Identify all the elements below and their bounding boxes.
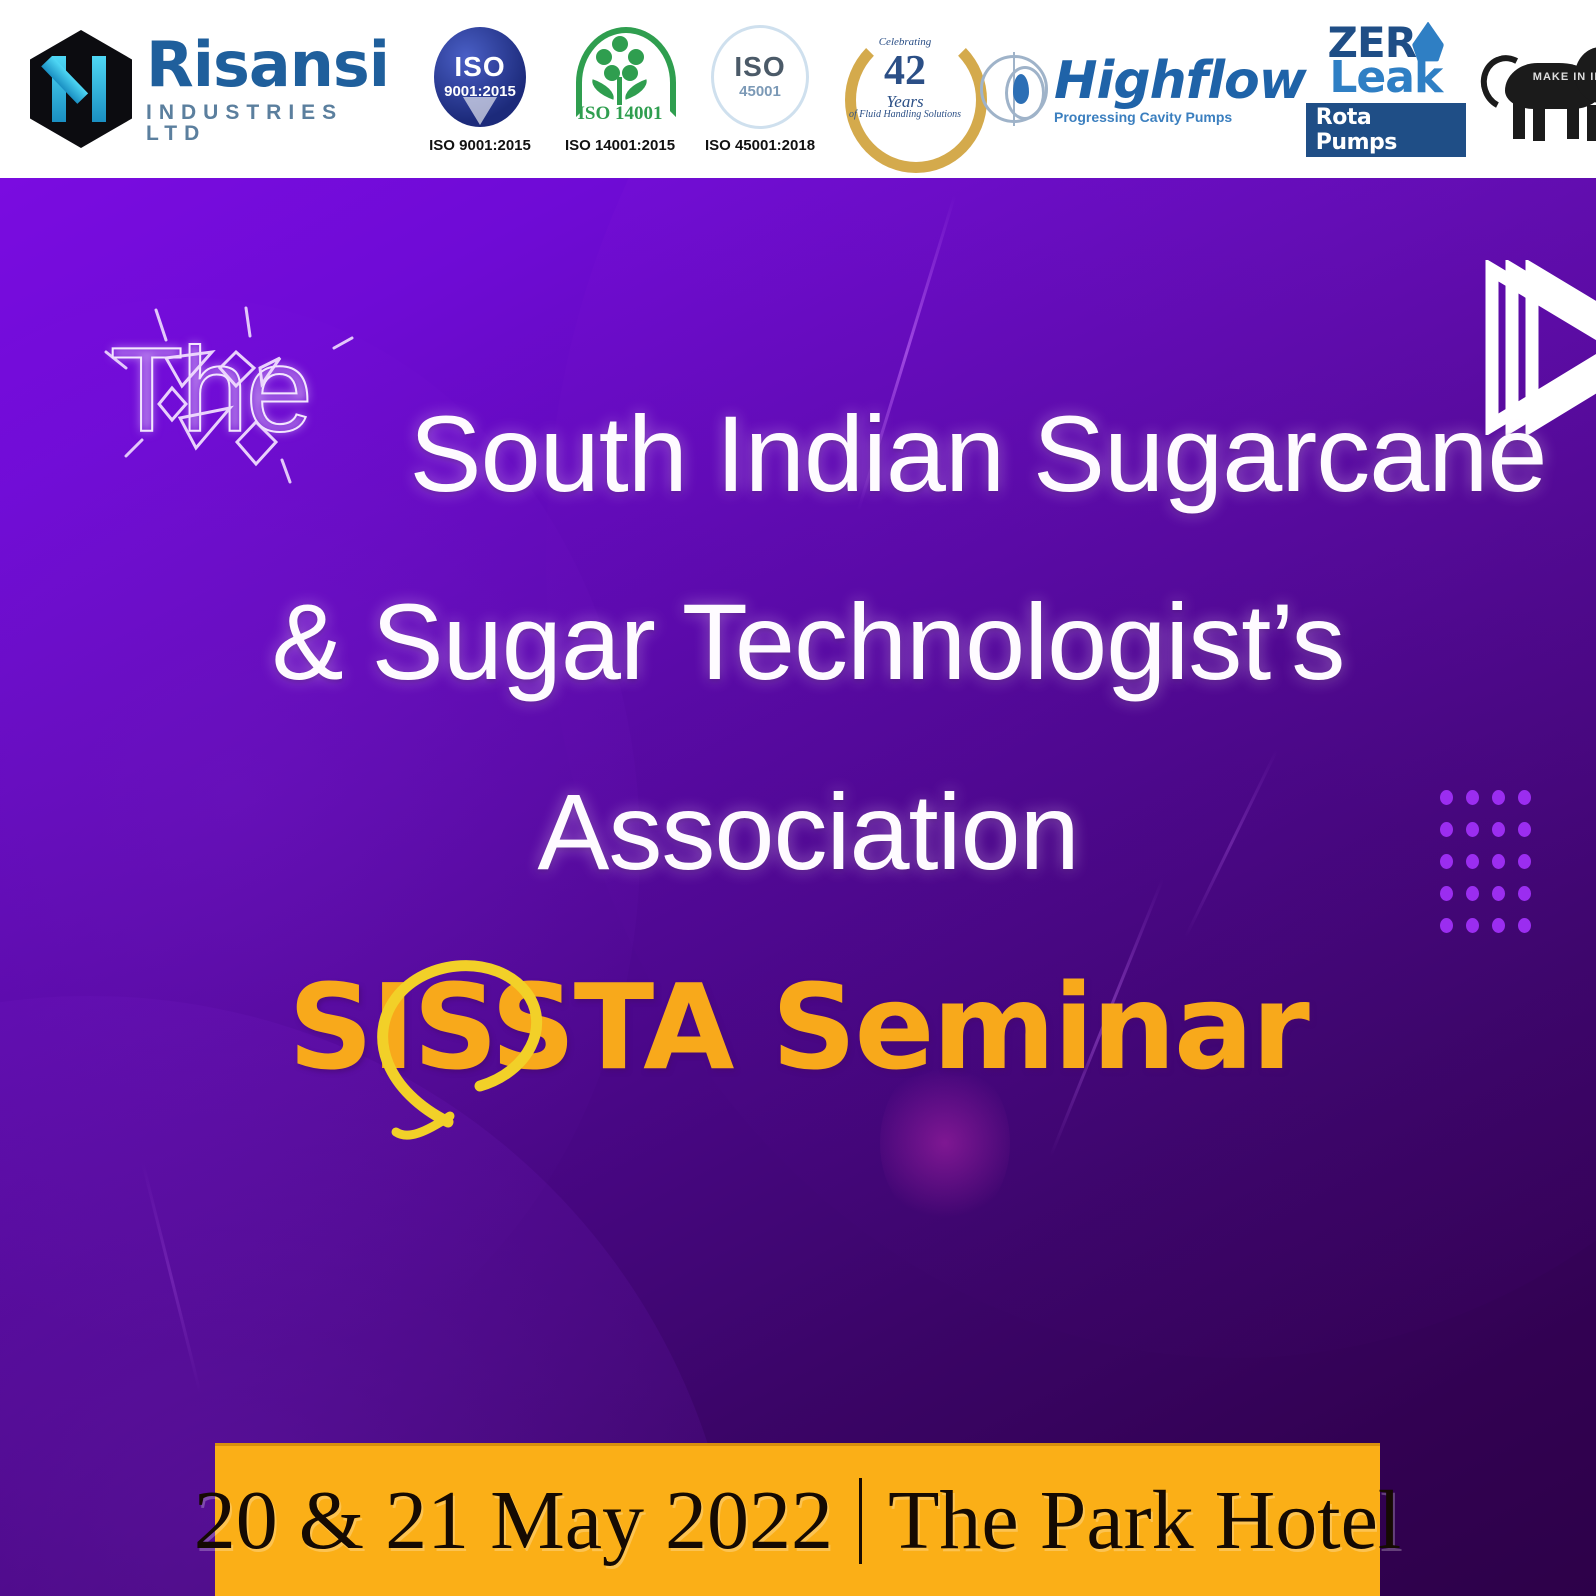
background-arc-top-right [546, 178, 1596, 1358]
zeroleak-logo: ZER Leak Rota Pumps [1306, 0, 1466, 178]
poster-background: The [0, 178, 1596, 1596]
title-line-3: Association [0, 778, 1596, 886]
title-line-1: South Indian Sugarcane [0, 400, 1596, 508]
event-name: SISSTA Seminar [288, 968, 1308, 1086]
risansi-subtitle: INDUSTRIES LTD [146, 102, 410, 144]
highflow-tagline: Progressing Cavity Pumps [1054, 110, 1306, 124]
anniversary-tagline: of Fluid Handling Solutions [835, 110, 975, 121]
iso-14001-flower-icon: ISO 14001 [573, 27, 667, 127]
iso-14001-badge: ISO 14001 ISO 14001:2015 [550, 0, 690, 178]
anniversary-top-line: Celebrating [835, 37, 975, 49]
highflow-globe-icon [980, 55, 1048, 123]
zeroleak-rota-pumps-label: Rota Pumps [1306, 103, 1466, 157]
risansi-hexagon-icon [30, 30, 132, 148]
iso-9001-mark-title: ISO [454, 53, 505, 81]
anniversary-badge: Celebrating 42 Years of Fluid Handling S… [830, 0, 980, 178]
highflow-logo: Highflow Progressing Cavity Pumps [980, 0, 1306, 178]
event-dates: 20 & 21 May 2022 [194, 1479, 833, 1563]
iso-14001-caption: ISO 14001:2015 [565, 137, 675, 154]
event-venue: The Park Hotel [888, 1479, 1401, 1563]
iso-9001-check-icon [463, 97, 497, 125]
iso-45001-caption: ISO 45001:2018 [705, 137, 815, 154]
iso-45001-mark-number: 45001 [739, 83, 781, 100]
iso-9001-badge: ISO 9001:2015 ISO 9001:2015 [410, 0, 550, 178]
title-line-2: & Sugar Technologist’s [0, 588, 1596, 696]
highflow-wordmark: Highflow [1054, 55, 1306, 107]
iso-45001-mark-title: ISO [734, 53, 785, 81]
event-name-row: SISSTA Seminar [0, 968, 1596, 1086]
poster-canvas: Risansi INDUSTRIES LTD ISO 9001:2015 ISO… [0, 0, 1596, 1596]
iso-14001-mark-title: ISO 14001 [573, 103, 667, 125]
iso-9001-caption: ISO 9001:2015 [429, 137, 531, 154]
make-in-india-logo: MAKE IN INDIA [1466, 0, 1596, 178]
lion-icon: MAKE IN INDIA [1471, 33, 1596, 145]
risansi-logo: Risansi INDUSTRIES LTD [30, 0, 410, 178]
iso-45001-badge: ISO 45001 ISO 45001:2018 [690, 0, 830, 178]
event-details-bar: 20 & 21 May 2022 The Park Hotel [215, 1443, 1380, 1596]
iso-9001-seal-icon: ISO 9001:2015 [434, 27, 526, 127]
detail-separator [859, 1478, 862, 1564]
water-drop-icon [1412, 22, 1444, 64]
iso-45001-seal-icon: ISO 45001 [711, 25, 809, 129]
anniversary-number: 42 [835, 49, 975, 93]
risansi-wordmark: Risansi [146, 34, 410, 96]
anniversary-years-label: Years [835, 93, 975, 111]
make-in-india-text: MAKE IN INDIA [1533, 71, 1596, 83]
zeroleak-word-leak: Leak [1329, 56, 1442, 100]
sponsor-logo-bar: Risansi INDUSTRIES LTD ISO 9001:2015 ISO… [0, 0, 1596, 178]
